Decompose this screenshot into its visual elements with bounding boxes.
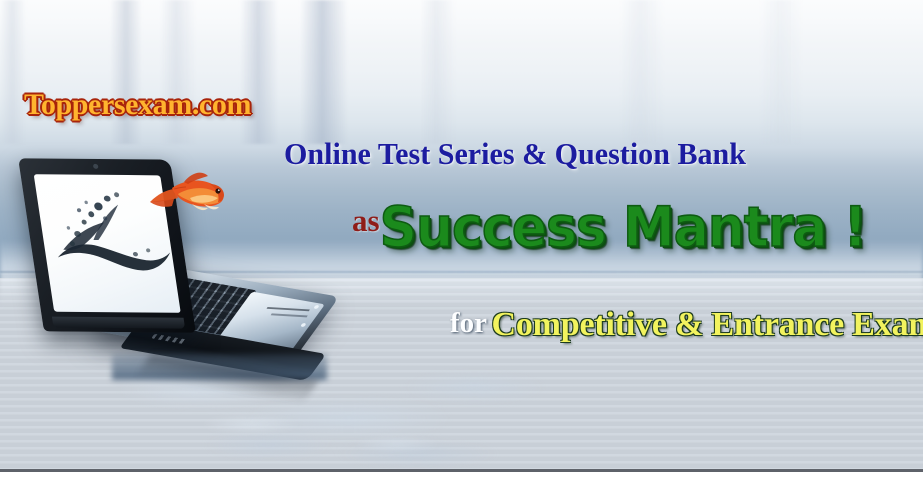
headline: Online Test Series & Question Bank xyxy=(284,136,746,172)
promo-banner: Toppersexam.com Online Test Series & Que… xyxy=(0,0,923,480)
laptop-hinge xyxy=(52,317,185,329)
subline-prefix: for xyxy=(450,307,487,339)
tagline-prefix: as xyxy=(352,203,380,238)
sky-streaks-texture xyxy=(0,0,923,144)
subline-main: Competitive & Entrance Exam xyxy=(491,306,923,343)
laptop-webcam-icon xyxy=(93,164,99,169)
goldfish-leaping-icon xyxy=(144,158,239,220)
subline: for Competitive & Entrance Exam xyxy=(450,306,923,344)
bottom-white-strip xyxy=(0,472,923,480)
sea-foam-highlight xyxy=(129,394,535,471)
tagline: asSuccess Mantra ! xyxy=(352,198,866,258)
site-logo[interactable]: Toppersexam.com xyxy=(24,88,251,122)
tagline-main: Success Mantra ! xyxy=(380,196,867,260)
laptop-vents xyxy=(151,334,188,344)
